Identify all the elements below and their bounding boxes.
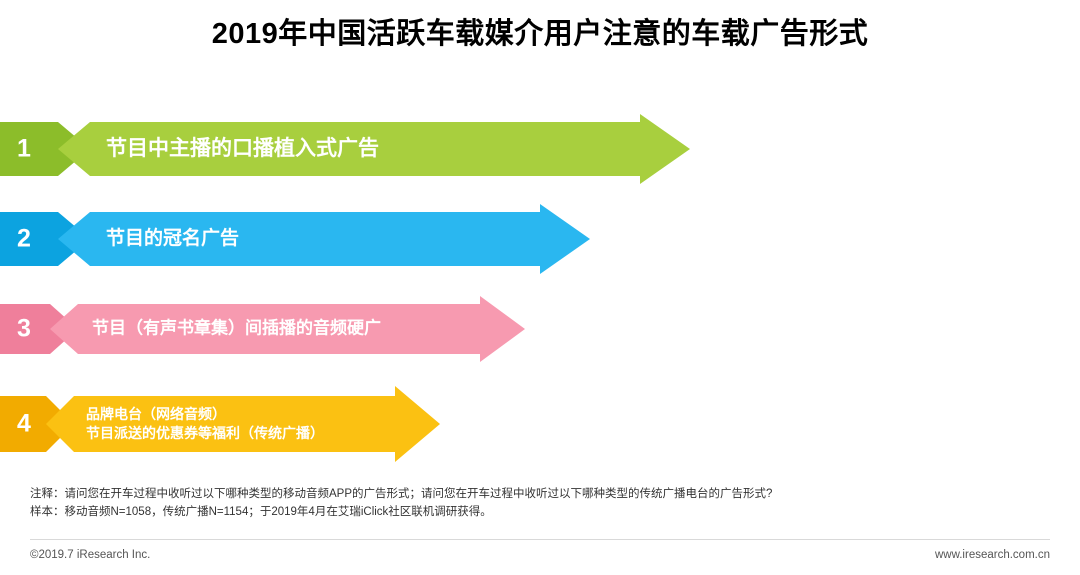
footnote-sample-text: 移动音频N=1058，传统广播N=1154；于2019年4月在艾瑞iClick社… (65, 506, 492, 518)
arrow-bar-4: 4 品牌电台（网络音频） 节目派送的优惠券等福利（传统广播） (0, 384, 440, 454)
rank-number-2: 2 (17, 227, 31, 252)
arrow-chart: 1 节目中主播的口播植入式广告 2 节目的冠名广告 3 节目（有声书章集）间插播… (0, 62, 1080, 482)
bar-label-4: 品牌电台（网络音频） 节目派送的优惠券等福利（传统广播） (86, 405, 324, 443)
rank-number-3: 3 (17, 317, 31, 342)
footnote-sample: 样本：移动音频N=1058，传统广播N=1154；于2019年4月在艾瑞iCli… (30, 504, 1050, 522)
footnotes: 注释：请问您在开车过程中收听过以下哪种类型的移动音频APP的广告形式；请问您在开… (30, 486, 1050, 522)
chart-row: 4 品牌电台（网络音频） 节目派送的优惠券等福利（传统广播） (0, 384, 890, 454)
website-link[interactable]: www.iresearch.com.cn (935, 549, 1050, 561)
bar-label-1: 节目中主播的口播植入式广告 (106, 135, 379, 163)
chart-row: 3 节目（有声书章集）间插播的音频硬广 (0, 294, 890, 364)
page-title: 2019年中国活跃车载媒介用户注意的车载广告形式 (212, 10, 869, 52)
copyright-text: ©2019.7 iResearch Inc. (30, 549, 150, 561)
chart-row: 2 节目的冠名广告 (0, 204, 890, 274)
page-title-bar: 2019年中国活跃车载媒介用户注意的车载广告形式 (0, 0, 1080, 62)
footnote-note-label: 注释： (30, 488, 65, 500)
footnote-sample-label: 样本： (30, 506, 65, 518)
footnote-note-text: 请问您在开车过程中收听过以下哪种类型的移动音频APP的广告形式；请问您在开车过程… (65, 488, 773, 500)
bar-label-3: 节目（有声书章集）间插播的音频硬广 (92, 318, 381, 341)
arrow-bar-1: 1 节目中主播的口播植入式广告 (0, 114, 690, 184)
footnote-note: 注释：请问您在开车过程中收听过以下哪种类型的移动音频APP的广告形式；请问您在开… (30, 486, 1050, 504)
rank-number-1: 1 (17, 137, 31, 162)
arrow-bar-3: 3 节目（有声书章集）间插播的音频硬广 (0, 294, 525, 364)
rank-number-4: 4 (17, 412, 31, 437)
bar-label-2: 节目的冠名广告 (106, 226, 239, 252)
arrow-bar-2: 2 节目的冠名广告 (0, 204, 590, 274)
chart-row: 1 节目中主播的口播植入式广告 (0, 114, 890, 184)
arrow-shape-2 (0, 204, 590, 274)
footer-divider (30, 539, 1050, 540)
footer: ©2019.7 iResearch Inc. www.iresearch.com… (0, 545, 1080, 575)
